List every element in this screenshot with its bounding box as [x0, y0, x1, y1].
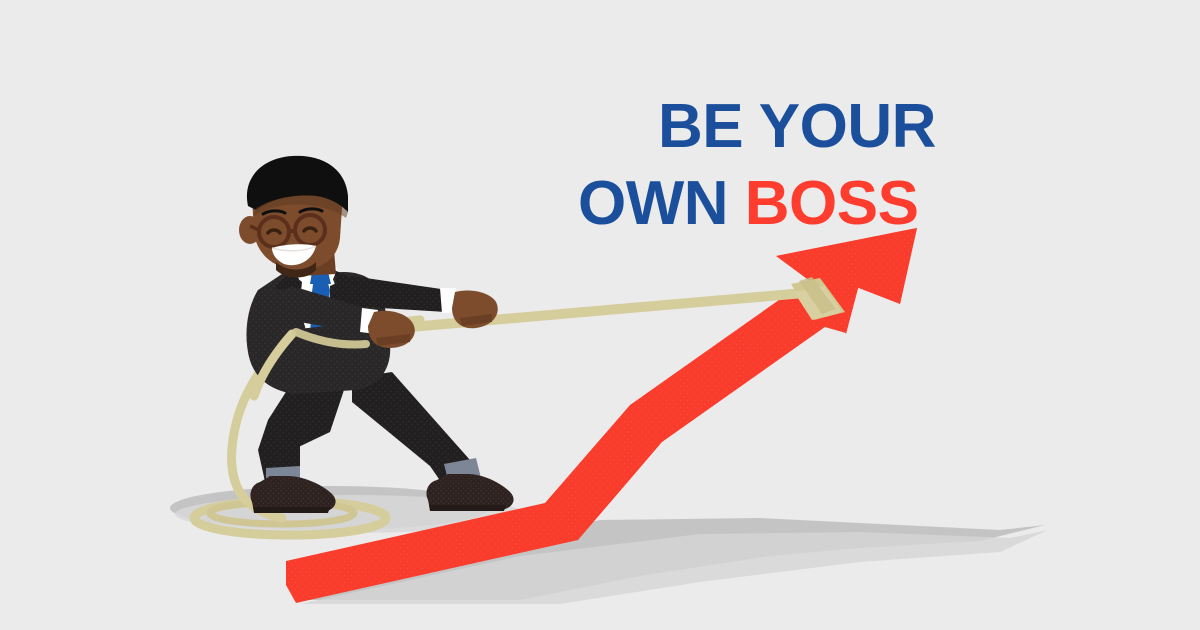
headline-space	[728, 169, 745, 238]
shoulder-overlay	[260, 288, 289, 326]
headline-line-1-text: BE YOUR	[658, 92, 936, 161]
front-shoe-sole	[253, 507, 330, 513]
back-shoe-sole	[429, 505, 506, 511]
headline-line-1: BE YOUR	[658, 96, 936, 158]
poster-canvas: BE YOUR OWN BOSS	[0, 0, 1200, 630]
headline-own-text: OWN	[578, 169, 728, 238]
headline-boss-text: BOSS	[745, 169, 919, 238]
illustration-artwork	[0, 0, 1200, 630]
headline-line-2: OWN BOSS	[578, 173, 918, 235]
